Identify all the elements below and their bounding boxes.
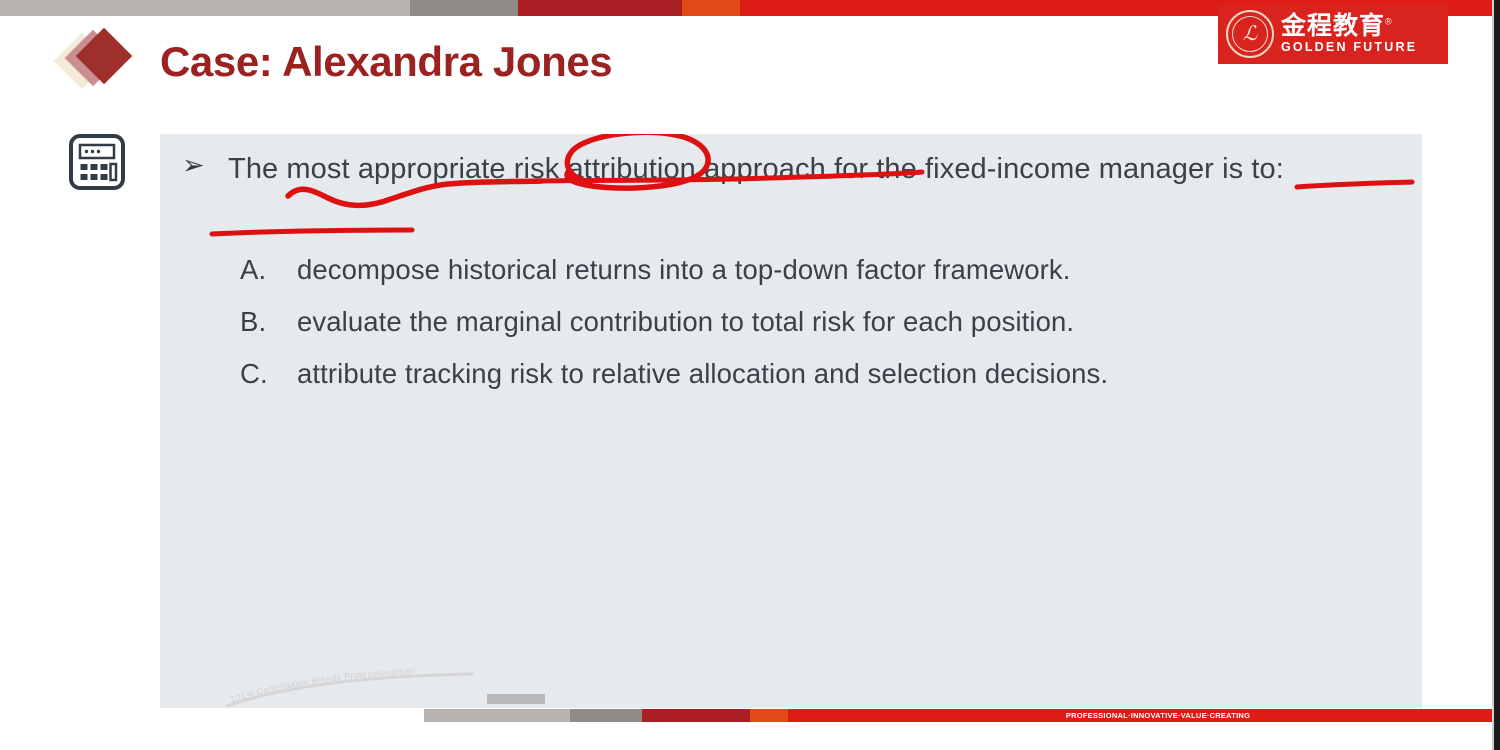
question-text: The most appropriate risk attribution ap…: [228, 146, 1412, 193]
ink-annotation-layer: [160, 134, 1422, 708]
botbar-segment-5: [788, 709, 924, 722]
topbar-segment-3: [518, 0, 682, 16]
botbar-segment-4: [750, 709, 788, 722]
question-row: ➢ The most appropriate risk attribution …: [182, 146, 1412, 193]
option-c[interactable]: C. attribute tracking risk to relative a…: [240, 355, 1400, 392]
footer-tagline: PROFESSIONAL·INNOVATIVE·VALUE·CREATING: [924, 709, 1392, 722]
option-a[interactable]: A. decompose historical returns into a t…: [240, 251, 1400, 288]
botbar-segment-6: [1392, 709, 1492, 722]
calculator-icon: [68, 133, 126, 191]
footer-accent-tab: [487, 694, 545, 704]
content-panel: ➢ The most appropriate risk attribution …: [160, 134, 1422, 708]
option-a-text: decompose historical returns into a top-…: [297, 251, 1400, 288]
logo-seal-icon: ℒ: [1226, 10, 1274, 58]
logo-registered-mark: ®: [1385, 17, 1393, 27]
option-b[interactable]: B. evaluate the marginal contribution to…: [240, 303, 1400, 340]
botbar-segment-1: [424, 709, 570, 722]
diamond-stack-icon: [62, 30, 140, 92]
page-title: Case: Alexandra Jones: [160, 38, 612, 86]
underline-manager: [212, 230, 412, 234]
botbar-segment-3: [642, 709, 750, 722]
option-c-text: attribute tracking risk to relative allo…: [297, 355, 1400, 392]
logo-brand-en: GOLDEN FUTURE: [1281, 40, 1417, 55]
option-b-letter: B.: [240, 303, 297, 340]
option-a-letter: A.: [240, 251, 297, 288]
brand-logo: ℒ 金程教育® GOLDEN FUTURE: [1218, 4, 1448, 64]
question-block: ➢ The most appropriate risk attribution …: [182, 146, 1412, 193]
topbar-segment-4: [682, 0, 740, 16]
logo-seal-monogram: ℒ: [1243, 24, 1257, 44]
logo-brand-cn: 金程教育®: [1281, 13, 1417, 39]
slide-canvas: ℒ 金程教育® GOLDEN FUTURE Case: Alexandra Jo…: [0, 0, 1500, 750]
botbar-segment-2: [570, 709, 642, 722]
arrow-bullet-icon: ➢: [182, 146, 228, 179]
logo-brand-cn-text: 金程教育: [1281, 12, 1385, 40]
options-list: A. decompose historical returns into a t…: [240, 251, 1400, 407]
window-right-edge: [1494, 0, 1500, 750]
topbar-segment-1: [0, 0, 410, 16]
option-c-letter: C.: [240, 355, 297, 392]
bottom-color-bar: PROFESSIONAL·INNOVATIVE·VALUE·CREATING: [424, 709, 1492, 722]
option-b-text: evaluate the marginal contribution to to…: [297, 303, 1400, 340]
topbar-segment-2: [410, 0, 518, 16]
logo-text-block: 金程教育® GOLDEN FUTURE: [1281, 13, 1417, 55]
